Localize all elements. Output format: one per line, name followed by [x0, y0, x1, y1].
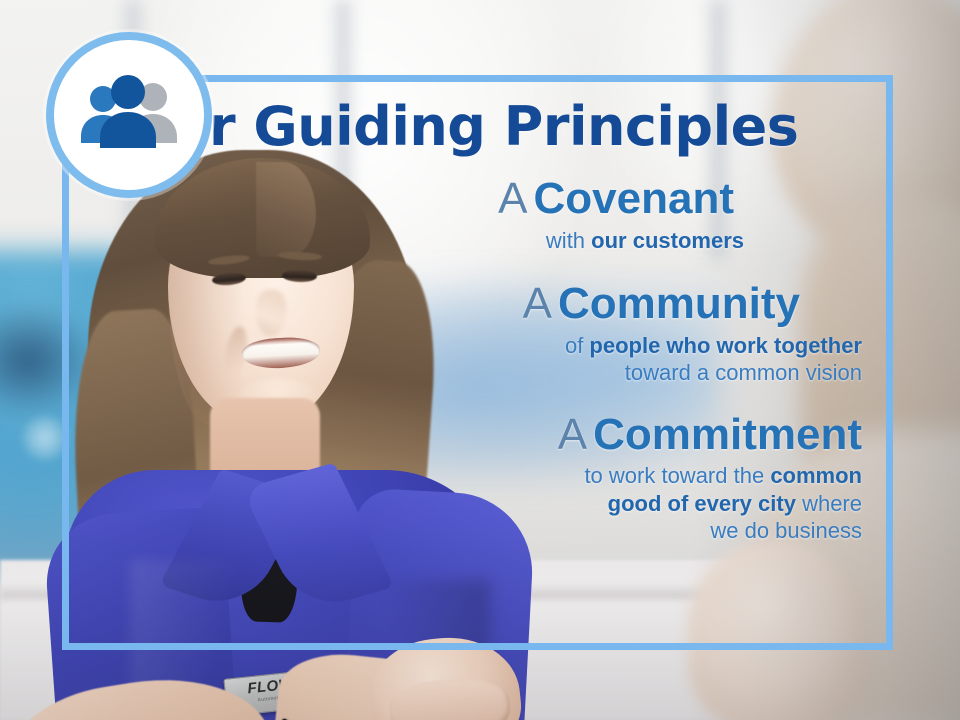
people-group-icon: [73, 72, 185, 158]
people-badge: [46, 32, 212, 198]
promotional-graphic: FLOW FLOW Automotive Our Guiding Princip…: [0, 0, 960, 720]
